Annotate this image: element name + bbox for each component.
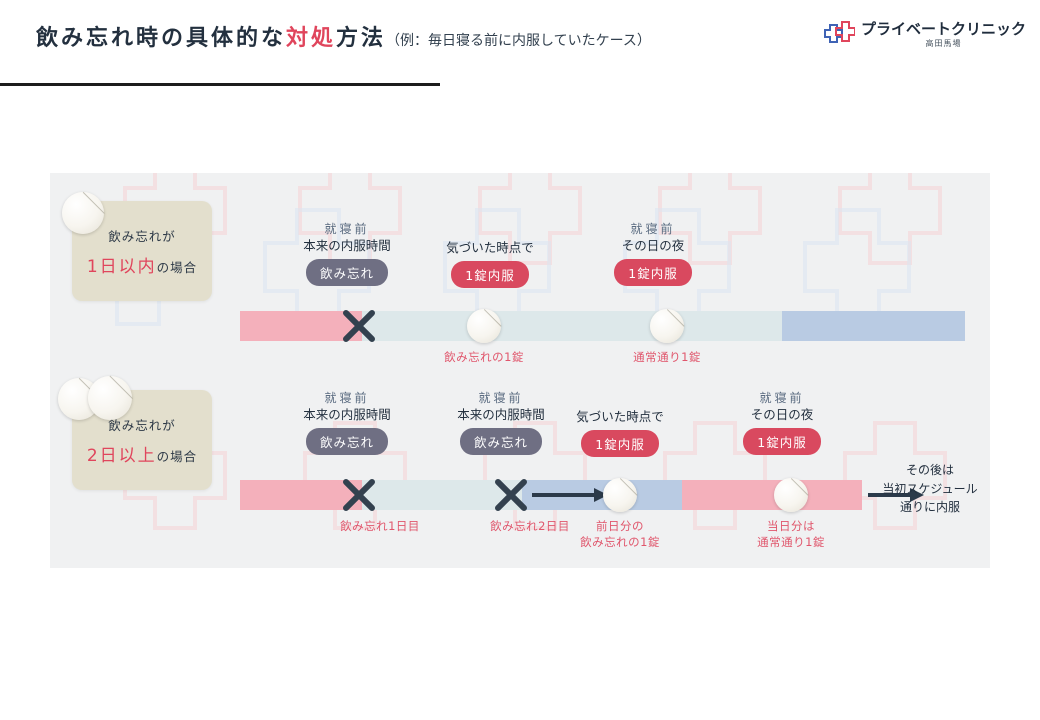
case-1-row: 飲み忘れが 1日以内の場合 就寝前 本来の内服時間 飲み忘れ 気づいた時点で 1…: [50, 189, 990, 359]
page-header: 飲み忘れ時の具体的な対処方法（例：毎日寝る前に内服していたケース） プライベート…: [0, 0, 1040, 90]
case-1-caption-2: 通常通り1錠: [597, 349, 737, 365]
case-2-caption-3-line2: 飲み忘れの1錠: [580, 535, 660, 549]
page-title-part2: 方法: [336, 26, 386, 51]
page-title-accent: 対処: [286, 26, 336, 51]
case-1-label-bottom: 1日以内の場合: [87, 252, 197, 277]
case-2-step-2: 就寝前 本来の内服時間 飲み忘れ: [436, 390, 566, 455]
case-2-step-4-time: 就寝前: [717, 390, 847, 406]
after-note-line1: その後は: [906, 463, 954, 477]
catch-up-arrow-icon: [532, 486, 610, 508]
logo-name: プライベートクリニック: [861, 22, 1026, 37]
tablet-icon-taken-now: [467, 309, 501, 343]
case-1-step-1-desc: 本来の内服時間: [282, 237, 412, 256]
case-2-step-2-badge: 飲み忘れ: [460, 428, 542, 455]
page-title-part1: 飲み忘れ時の具体的な: [36, 26, 286, 51]
timeline-segment-pink: [682, 480, 862, 510]
case-2-step-1-badge: 飲み忘れ: [306, 428, 388, 455]
case-1-label-top: 飲み忘れが: [108, 226, 176, 245]
case-1-step-1: 就寝前 本来の内服時間 飲み忘れ: [282, 221, 412, 286]
case-2-caption-4-line2: 通常通り1錠: [757, 535, 825, 549]
case-2-after-note: その後は 当初スケジュール 通りに内服: [870, 461, 990, 517]
case-2-caption-4-line1: 当日分は: [767, 519, 815, 533]
case-1-step-3-badge: 1錠内服: [614, 259, 691, 286]
timeline-segment-blue: [782, 311, 965, 341]
case-2-step-1-time: 就寝前: [282, 390, 412, 406]
case-2-step-4-badge: 1錠内服: [743, 428, 820, 455]
case-2-step-3-desc: 気づいた時点で: [555, 408, 685, 427]
logo-text-block: プライベートクリニック 高田馬場: [861, 22, 1026, 48]
case-2-step-2-time: 就寝前: [436, 390, 566, 406]
case-1-caption-1: 飲み忘れの1錠: [414, 349, 554, 365]
case-2-step-1-desc: 本来の内服時間: [282, 406, 412, 425]
tablet-icon-missed-previous-day: [603, 478, 637, 512]
case-1-step-3-time: 就寝前: [588, 221, 718, 237]
infographic-panel: 飲み忘れが 1日以内の場合 就寝前 本来の内服時間 飲み忘れ 気づいた時点で 1…: [50, 173, 990, 568]
case-2-label-bottom: 2日以上の場合: [87, 441, 197, 466]
tablet-icon-regular: [650, 309, 684, 343]
title-underline: [0, 83, 440, 86]
case-1-step-2-badge: 1錠内服: [451, 261, 528, 288]
case-1-step-2: 気づいた時点で 1錠内服: [425, 239, 555, 288]
case-2-step-2-desc: 本来の内服時間: [436, 406, 566, 425]
case-2-label-suffix: の場合: [157, 449, 198, 464]
case-1-label-big: 1日以内: [87, 257, 157, 277]
medical-cross-icon: [821, 20, 855, 50]
case-2-step-4-desc: その日の夜: [717, 406, 847, 425]
case-2-step-3: 気づいた時点で 1錠内服: [555, 408, 685, 457]
tablet-icon: [88, 376, 132, 420]
missed-dose-x-icon: [492, 476, 530, 514]
page-title-subtitle: （例：毎日寝る前に内服していたケース）: [386, 33, 651, 49]
case-2-step-1: 就寝前 本来の内服時間 飲み忘れ: [282, 390, 412, 455]
case-2-caption-3: 前日分の 飲み忘れの1錠: [540, 518, 700, 550]
missed-dose-x-icon: [340, 476, 378, 514]
case-1-step-3-desc: その日の夜: [588, 237, 718, 256]
tablet-icon: [62, 192, 104, 234]
case-2-row: 飲み忘れが 2日以上の場合 就寝前 本来の内服時間 飲み忘れ 就寝前 本来の内服…: [50, 368, 990, 553]
case-2-caption-1: 飲み忘れ1日目: [300, 518, 460, 534]
case-2-label-big: 2日以上: [87, 446, 157, 466]
case-2-step-4: 就寝前 その日の夜 1錠内服: [717, 390, 847, 455]
logo-place: 高田馬場: [925, 40, 961, 48]
case-2-caption-3-line1: 前日分の: [596, 519, 644, 533]
case-1-label-suffix: の場合: [157, 260, 198, 275]
case-1-step-1-time: 就寝前: [282, 221, 412, 237]
case-2-caption-4: 当日分は 通常通り1錠: [711, 518, 871, 550]
case-1-step-3: 就寝前 その日の夜 1錠内服: [588, 221, 718, 286]
clinic-logo: プライベートクリニック 高田馬場: [821, 14, 1026, 56]
after-note-line2: 当初スケジュール: [882, 482, 977, 496]
page-title: 飲み忘れ時の具体的な対処方法（例：毎日寝る前に内服していたケース）: [36, 20, 651, 52]
tablet-icon-today-regular: [774, 478, 808, 512]
timeline-segment-lightblue: [362, 311, 782, 341]
case-1-step-2-desc: 気づいた時点で: [425, 239, 555, 258]
missed-dose-x-icon: [340, 307, 378, 345]
case-1-step-1-badge: 飲み忘れ: [306, 259, 388, 286]
after-note-line3: 通りに内服: [900, 500, 960, 514]
case-2-step-3-badge: 1錠内服: [581, 430, 658, 457]
